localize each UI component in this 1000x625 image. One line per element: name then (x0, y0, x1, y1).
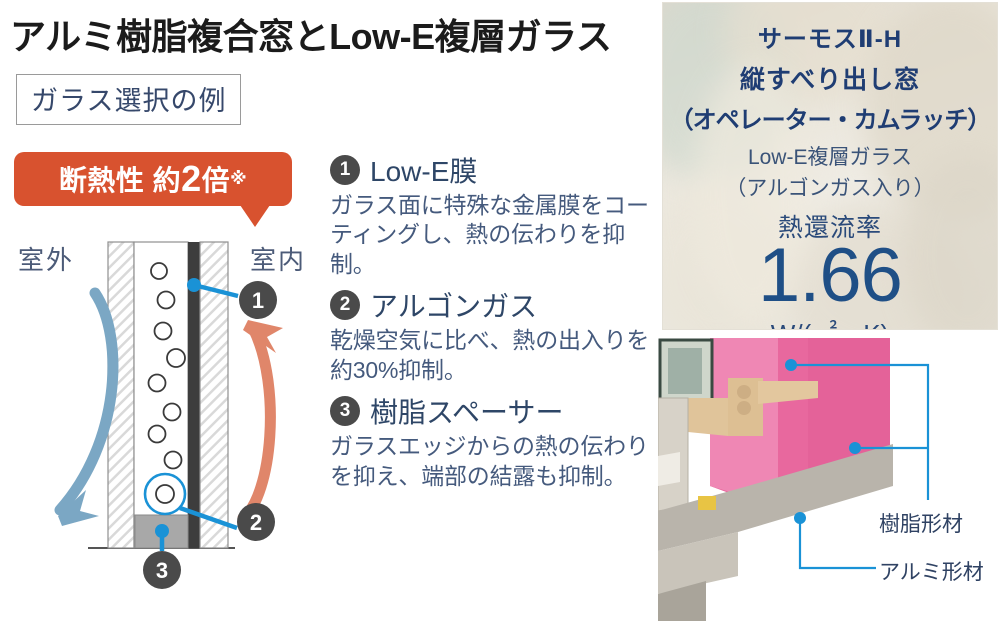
heat-in-arrow-shaft (243, 328, 270, 518)
hardware-hole-1 (737, 385, 751, 399)
badge-text-after: 倍 (202, 159, 231, 199)
diagram-svg: 1 2 3 (0, 228, 330, 625)
label-resin-section: 樹脂形材 (879, 508, 963, 538)
feature-item-3-body: ガラスエッジからの熱の伝わりを抑え、端部の結露も抑制。 (330, 432, 660, 491)
aluminium-cavity (658, 452, 680, 486)
badge-number: 2 (181, 161, 202, 197)
product-spec-panel: サーモスⅡ-H 縦すべり出し窓 （オペレーター・カムラッチ） Low-E複層ガラ… (662, 2, 998, 330)
glass-cross-section-diagram: 1 2 3 (0, 228, 330, 625)
insulation-badge: 断熱性 約2倍※ (14, 152, 292, 206)
product-spec-text: サーモスⅡ-H 縦すべり出し窓 （オペレーター・カムラッチ） Low-E複層ガラ… (663, 3, 997, 329)
feature-item-1-head: 1 Low-E膜 (330, 150, 660, 190)
feature-item-2-body: 乾燥空気に比べ、熱の出入りを約30%抑制。 (330, 326, 660, 385)
page-title: アルミ樹脂複合窓とLow‐E複層ガラス (10, 8, 611, 60)
frame-section-illustration (658, 336, 893, 625)
metric-value: 1.66 (663, 238, 997, 314)
leader-dot-3 (155, 524, 169, 538)
insulation-badge-body: 断熱性 約2倍※ (14, 152, 292, 206)
diagram-callout-1-label: 1 (252, 288, 264, 313)
window-type: 縦すべり出し窓 (663, 60, 997, 96)
frame-section-photo (658, 336, 893, 625)
diagram-callout-2-label: 2 (250, 510, 262, 535)
feature-item-3-title: 樹脂スペーサー (370, 391, 563, 431)
feature-item-1: 1 Low-E膜 ガラス面に特殊な金属膜をコーティングし、熱の伝わりを抑制。 (330, 150, 660, 279)
feature-list: 1 Low-E膜 ガラス面に特殊な金属膜をコーティングし、熱の伝わりを抑制。 2… (330, 150, 660, 497)
feature-item-2: 2 アルゴンガス 乾燥空気に比べ、熱の出入りを約30%抑制。 (330, 285, 660, 385)
feature-item-1-body: ガラス面に特殊な金属膜をコーティングし、熱の伝わりを抑制。 (330, 191, 660, 279)
heat-out-arrow-shaft (60, 293, 113, 510)
product-name: サーモスⅡ-H (663, 19, 997, 54)
gasket-detail (698, 496, 716, 510)
feature-item-3-number: 3 (330, 396, 360, 426)
badge-asterisk: ※ (230, 169, 247, 189)
glass-edge-inner (668, 348, 702, 394)
feature-item-2-head: 2 アルゴンガス (330, 285, 660, 325)
badge-text-before: 断熱性 約 (59, 159, 181, 199)
feature-item-3-head: 3 樹脂スペーサー (330, 391, 660, 431)
hardware-left (688, 398, 728, 436)
glass-type: Low-E複層ガラス (663, 141, 997, 171)
feature-item-1-title: Low-E膜 (370, 150, 477, 190)
label-aluminium-section: アルミ形材 (879, 556, 984, 586)
feature-item-2-title: アルゴンガス (370, 285, 537, 325)
leader-dot-1 (187, 278, 201, 292)
feature-item-3: 3 樹脂スペーサー ガラスエッジからの熱の伝わりを抑え、端部の結露も抑制。 (330, 391, 660, 491)
feature-item-2-number: 2 (330, 290, 360, 320)
example-label-box: ガラス選択の例 (16, 74, 241, 125)
infographic-page: アルミ樹脂複合窓とLow‐E複層ガラス ガラス選択の例 断熱性 約2倍※ 室外 … (0, 0, 1000, 625)
hardware-hole-2 (737, 401, 751, 415)
glass-note: （アルゴンガス入り） (663, 172, 997, 202)
feature-item-1-number: 1 (330, 155, 360, 185)
window-subtype: （オペレーター・カムラッチ） (663, 100, 997, 135)
badge-pointer-icon (240, 205, 270, 227)
diagram-callout-3-label: 3 (156, 558, 168, 583)
metric-unit: W/(㎡・K) (663, 314, 997, 330)
